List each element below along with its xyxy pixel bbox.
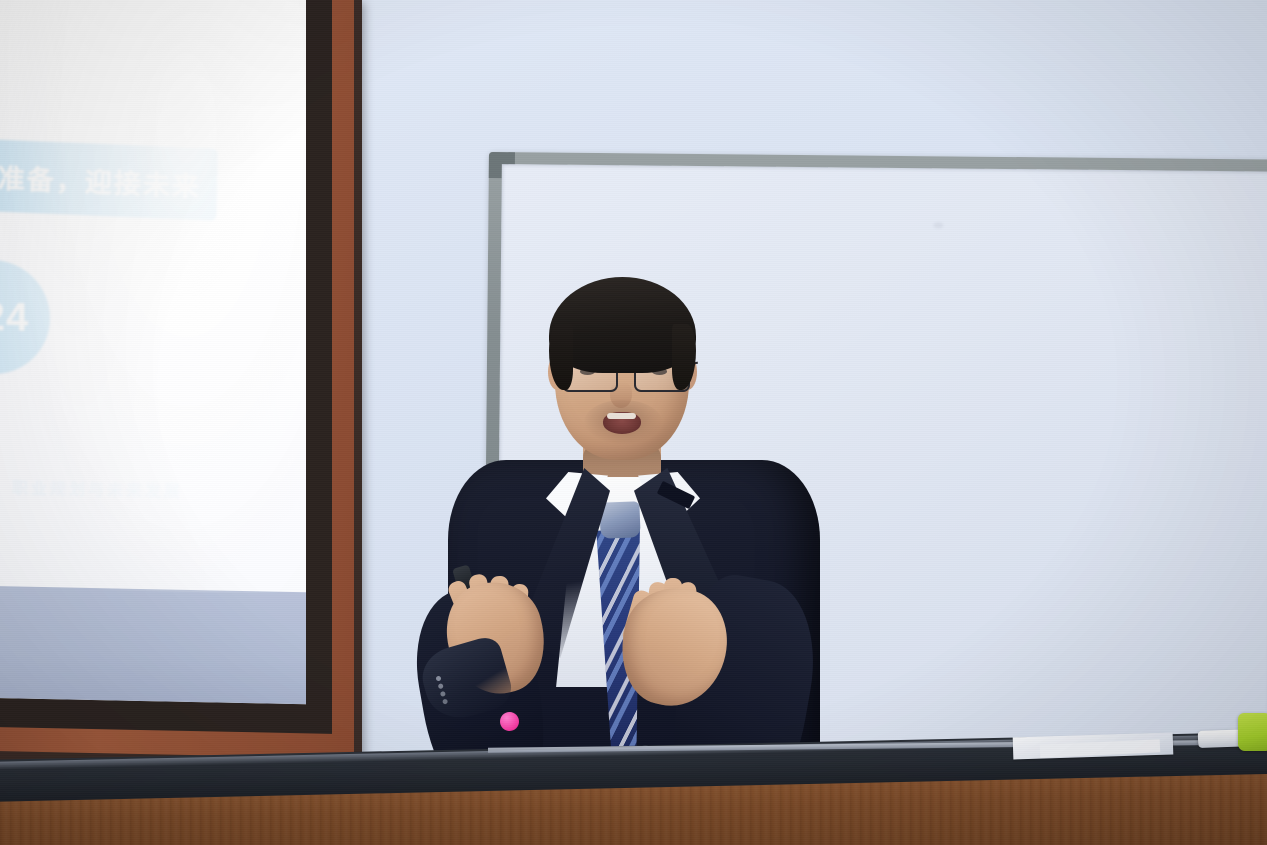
projection-unlit-area (0, 586, 306, 704)
slide-subtitle-text: 职业规划与未来发展 (12, 474, 272, 503)
whiteboard-smudge (933, 222, 943, 228)
necktie-knot (599, 501, 640, 538)
pink-marker-cap (500, 712, 519, 731)
slide-banner: …准备，迎接未来 (0, 132, 218, 220)
photo-scene: …准备，迎接未来 24 职业规划与未来发展 (0, 0, 1267, 845)
projection-screen-bevel: …准备，迎接未来 24 职业规划与未来发展 (0, 0, 332, 734)
projected-slide: …准备，迎接未来 24 职业规划与未来发展 (0, 0, 306, 595)
slide-banner-text: …准备，迎接未来 (0, 155, 201, 203)
projection-screen-frame: …准备，迎接未来 24 职业规划与未来发展 (0, 0, 362, 767)
green-cup (1238, 713, 1267, 751)
slide-year-text: 24 (0, 294, 29, 340)
teeth (607, 413, 636, 419)
projection-screen-surface: …准备，迎接未来 24 职业规划与未来发展 (0, 0, 306, 704)
projection-screen-wood-frame: …准备，迎接未来 24 职业规划与未来发展 (0, 0, 354, 758)
slide-year-circle: 24 (0, 259, 50, 375)
